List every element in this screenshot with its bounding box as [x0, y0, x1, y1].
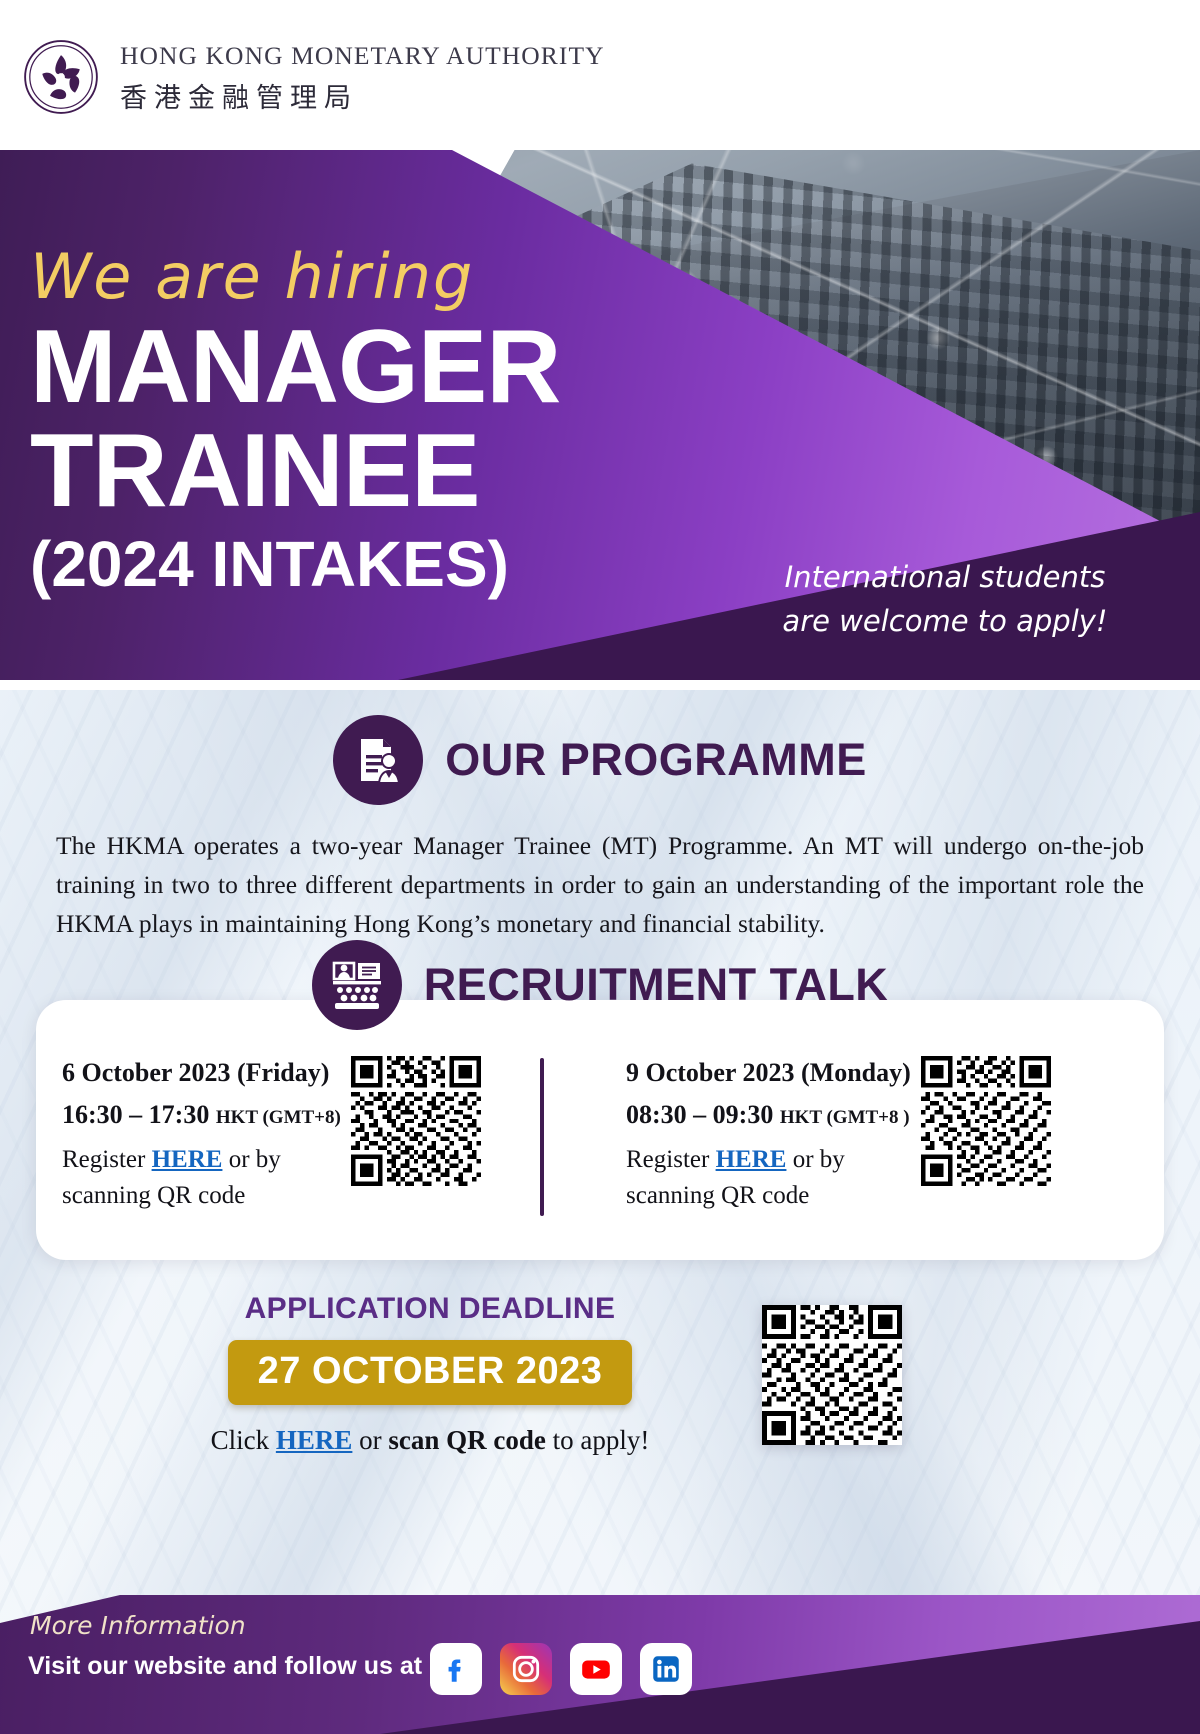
org-name-zh: 香港金融管理局	[120, 76, 605, 115]
application-deadline-block: APPLICATION DEADLINE 27 OCTOBER 2023 Cli…	[0, 1292, 860, 1456]
talk-session-2-register-line2: scanning QR code	[626, 1178, 911, 1214]
qr-code-register-9-october[interactable]	[921, 1056, 1051, 1186]
talk-session-1-register-link[interactable]: HERE	[152, 1146, 223, 1173]
application-cta-prefix: Click	[211, 1425, 276, 1455]
application-cta-link[interactable]: HERE	[276, 1425, 353, 1455]
hkma-logo: HONG KONG MONETARY AUTHORITY 香港金融管理局	[22, 38, 605, 116]
talk-sessions: 6 October 2023 (Friday) 16:30 – 17:30 HK…	[36, 1056, 1164, 1215]
talk-session-2-register: Register HERE or by scanning QR code	[626, 1142, 911, 1215]
document-person-icon	[333, 715, 423, 805]
talk-session-2-time-value: 08:30 – 09:30	[626, 1100, 773, 1129]
talk-session-1-time: 16:30 – 17:30 HKT (GMT+8)	[62, 1100, 341, 1130]
hero-tagline-line2: are welcome to apply!	[730, 600, 1160, 644]
hero-title-line2: TRAINEE	[30, 422, 640, 522]
application-cta: Click HERE or scan QR code to apply!	[0, 1425, 860, 1456]
talk-session-2-time: 08:30 – 09:30 HKT (GMT+8 )	[626, 1100, 911, 1130]
application-cta-bold: scan QR code	[388, 1425, 546, 1455]
talk-session-1-register-prefix: Register	[62, 1146, 152, 1173]
bauhinia-seal-logo-icon	[22, 38, 100, 116]
footer: More Information Visit our website and f…	[0, 1595, 1200, 1734]
recruitment-talk-title: RECRUITMENT TALK	[424, 959, 889, 1011]
hero-text-block: We are hiring MANAGER TRAINEE (2024 INTA…	[0, 150, 640, 595]
hero-eyebrow: We are hiring	[30, 246, 640, 308]
talk-session-1-date: 6 October 2023 (Friday)	[62, 1058, 341, 1088]
talk-session-1-register-line2: scanning QR code	[62, 1178, 341, 1214]
programme-section: OUR PROGRAMME The HKMA operates a two-ye…	[0, 715, 1200, 943]
talk-session-1: 6 October 2023 (Friday) 16:30 – 17:30 HK…	[36, 1056, 600, 1215]
recruitment-talk-header: RECRUITMENT TALK	[0, 940, 1200, 1030]
talk-session-1-register: Register HERE or by scanning QR code	[62, 1142, 341, 1215]
application-deadline-date: 27 OCTOBER 2023	[228, 1340, 633, 1405]
footer-more-info: More Information	[30, 1611, 246, 1640]
footer-social-links	[430, 1643, 692, 1695]
talk-session-2-date: 9 October 2023 (Monday)	[626, 1058, 911, 1088]
header: HONG KONG MONETARY AUTHORITY 香港金融管理局	[0, 0, 1200, 150]
footer-visit-text: Visit our website and follow us at	[28, 1652, 422, 1681]
talk-session-2-timezone: HKT (GMT+8 )	[780, 1107, 910, 1128]
talk-session-1-timezone: HKT (GMT+8)	[216, 1107, 341, 1128]
presentation-audience-icon	[312, 940, 402, 1030]
youtube-icon[interactable]	[570, 1643, 622, 1695]
facebook-icon[interactable]	[430, 1643, 482, 1695]
talk-session-2: 9 October 2023 (Monday) 08:30 – 09:30 HK…	[600, 1056, 1164, 1215]
linkedin-icon[interactable]	[640, 1643, 692, 1695]
application-cta-suffix: to apply!	[546, 1425, 649, 1455]
hero-title-line3: (2024 INTAKES)	[30, 534, 640, 595]
hero-tagline: International students are welcome to ap…	[730, 556, 1160, 643]
programme-body-text: The HKMA operates a two-year Manager Tra…	[56, 827, 1144, 943]
recruitment-poster: HONG KONG MONETARY AUTHORITY 香港金融管理局 We …	[0, 0, 1200, 1734]
hero-title-line1: MANAGER	[30, 318, 640, 418]
instagram-icon[interactable]	[500, 1643, 552, 1695]
programme-title: OUR PROGRAMME	[445, 734, 867, 786]
application-deadline-label: APPLICATION DEADLINE	[0, 1292, 860, 1326]
qr-code-apply[interactable]	[762, 1305, 902, 1445]
talk-session-2-register-prefix: Register	[626, 1146, 716, 1173]
org-name-en: HONG KONG MONETARY AUTHORITY	[120, 41, 605, 71]
qr-code-register-6-october[interactable]	[351, 1056, 481, 1186]
talk-session-2-register-link[interactable]: HERE	[716, 1146, 787, 1173]
talk-session-1-register-suffix: or by	[222, 1146, 280, 1173]
talk-session-2-register-suffix: or by	[786, 1146, 844, 1173]
application-cta-middle: or	[352, 1425, 388, 1455]
hero-tagline-line1: International students	[730, 556, 1160, 600]
programme-header: OUR PROGRAMME	[0, 715, 1200, 805]
talk-session-1-time-value: 16:30 – 17:30	[62, 1100, 209, 1129]
